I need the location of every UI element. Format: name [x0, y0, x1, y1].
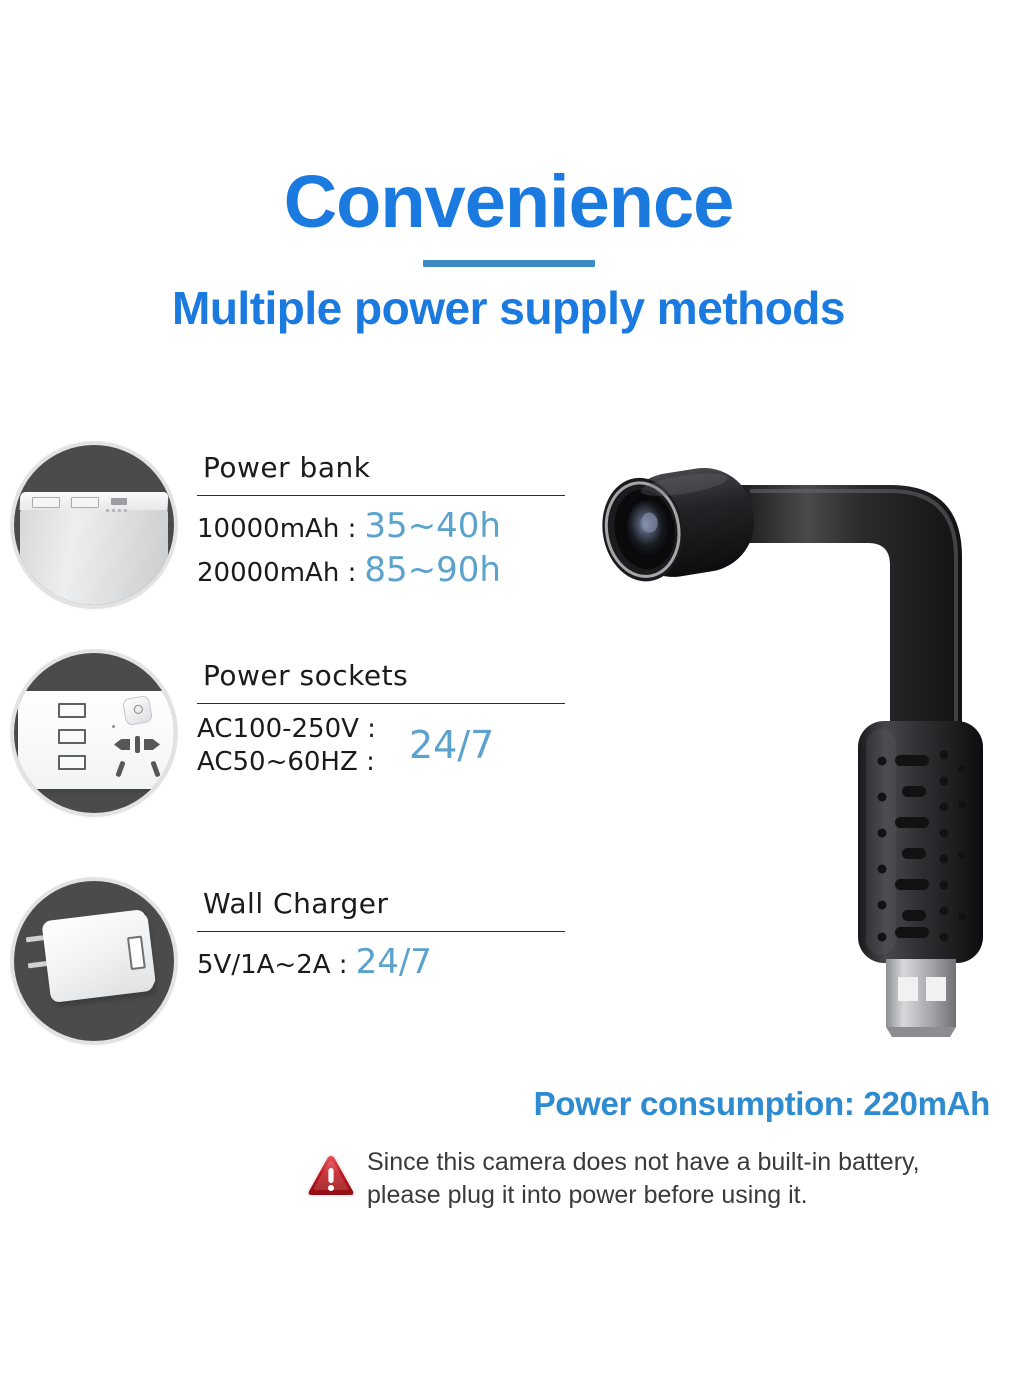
wall-charger-icon: [14, 881, 174, 1041]
spec-title: Power bank: [197, 440, 577, 495]
spec-row-wall-charger: Wall Charger 5V/1A~2A : 24/7: [0, 876, 600, 1056]
warning-block: Since this camera does not have a built-…: [305, 1146, 1005, 1211]
warning-triangle-icon: [305, 1152, 357, 1200]
warning-line-2: please plug it into power before using i…: [367, 1179, 920, 1212]
spec-title: Power sockets: [197, 648, 577, 703]
spec-line: AC100-250V :: [197, 713, 577, 746]
spec-label: AC50~60HZ :: [197, 746, 375, 779]
spec-row-power-bank: Power bank 10000mAh : 35~40h 20000mAh : …: [0, 440, 600, 620]
spec-value-merged: 24/7: [409, 723, 494, 767]
spec-label: 5V/1A~2A :: [197, 949, 348, 982]
power-socket-icon: [14, 653, 174, 813]
usb-camera-product-photo: [590, 425, 1017, 1050]
spec-line: AC50~60HZ :: [197, 746, 577, 779]
spec-label: 20000mAh :: [197, 557, 356, 590]
header: Convenience Multiple power supply method…: [0, 0, 1017, 331]
spec-value: 85~90h: [356, 549, 501, 593]
spec-label: 10000mAh :: [197, 513, 356, 546]
title-divider: [423, 260, 595, 267]
spec-title: Wall Charger: [197, 876, 577, 931]
spec-line: 5V/1A~2A : 24/7: [197, 941, 577, 985]
page-title: Convenience: [0, 0, 1017, 239]
spec-text-power-sockets: Power sockets AC100-250V : AC50~60HZ : 2…: [197, 648, 577, 780]
spec-line: 20000mAh : 85~90h: [197, 549, 577, 593]
power-consumption-label: Power consumption: 220mAh: [0, 1085, 990, 1123]
spec-label: AC100-250V :: [197, 713, 376, 746]
warning-line-1: Since this camera does not have a built-…: [367, 1146, 920, 1179]
spec-value: 35~40h: [356, 505, 501, 549]
spec-text-power-bank: Power bank 10000mAh : 35~40h 20000mAh : …: [197, 440, 577, 592]
warning-text: Since this camera does not have a built-…: [357, 1146, 920, 1211]
spec-row-power-sockets: Power sockets AC100-250V : AC50~60HZ : 2…: [0, 648, 600, 828]
spec-line: 10000mAh : 35~40h: [197, 505, 577, 549]
power-bank-icon: [14, 445, 174, 605]
spec-text-wall-charger: Wall Charger 5V/1A~2A : 24/7: [197, 876, 577, 985]
spec-value: 24/7: [348, 941, 432, 985]
page-subtitle: Multiple power supply methods: [0, 267, 1017, 331]
